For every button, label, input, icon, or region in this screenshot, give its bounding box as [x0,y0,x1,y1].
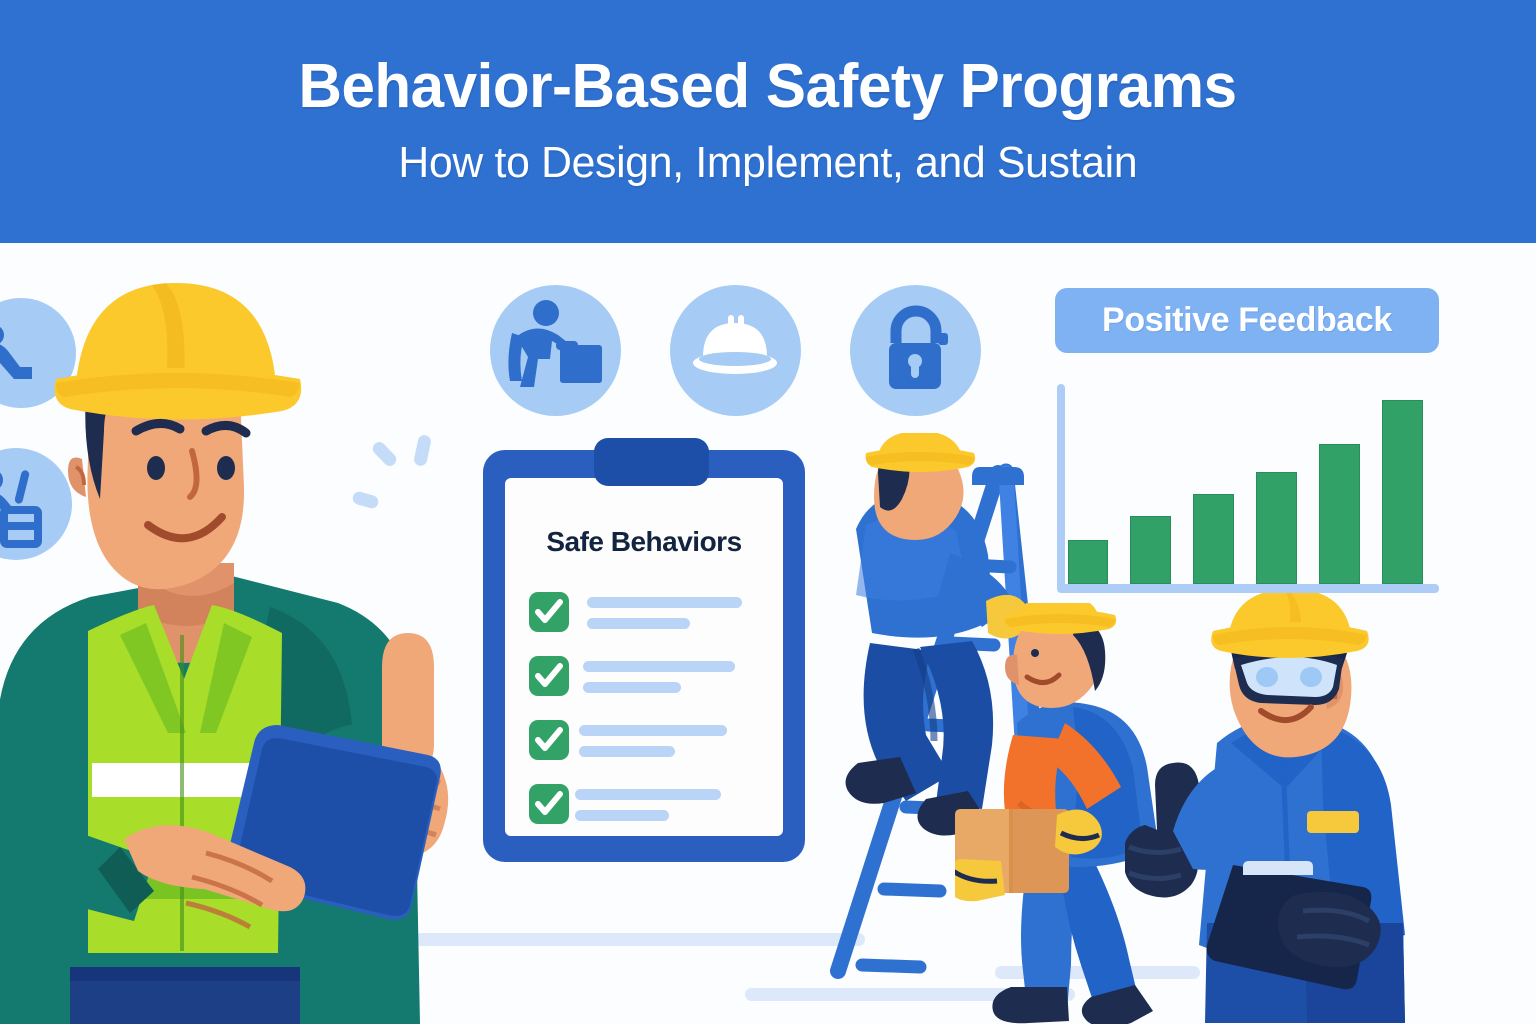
clipboard-page: Safe Behaviors [505,478,783,836]
safety-supervisor [0,243,530,1024]
header-banner: Behavior-Based Safety Programs How to De… [0,0,1536,243]
bar-6 [1382,400,1423,584]
chart-y-axis [1057,384,1065,590]
checklist-line-primary [583,661,735,672]
bar-1 [1068,540,1108,584]
checkbox-checked-icon[interactable] [529,720,569,760]
check-glyph [535,663,563,689]
clipboard-title: Safe Behaviors [505,526,783,558]
checklist-row[interactable] [529,592,765,644]
chart-x-axis [1057,584,1439,593]
check-glyph [535,599,563,625]
checklist-line-primary [579,725,727,736]
check-glyph [535,727,563,753]
checklist-line-secondary [575,810,669,821]
bar-4 [1256,472,1297,584]
checklist-line-secondary [579,746,675,757]
checklist-row[interactable] [529,656,765,708]
positive-feedback-chart: Positive Feedback [1043,288,1443,608]
checklist-row[interactable] [529,784,765,836]
checkbox-checked-icon[interactable] [529,592,569,632]
hard-hat-icon [670,285,801,416]
page-subtitle: How to Design, Implement, and Sustain [399,138,1138,188]
checklist-line-primary [587,597,742,608]
checklist-line-secondary [583,682,681,693]
bar-3 [1193,494,1234,584]
safe-behaviors-clipboard: Safe Behaviors [483,450,805,862]
bar-5 [1319,444,1360,584]
chart-bars [1065,384,1441,584]
inspector-with-goggles [1125,593,1465,1024]
bar-2 [1130,516,1171,584]
poster-canvas: Behavior-Based Safety Programs How to De… [0,0,1536,1024]
page-title: Behavior-Based Safety Programs [299,56,1237,118]
check-glyph [535,791,563,817]
checkbox-checked-icon[interactable] [529,784,569,824]
checklist-line-primary [575,789,721,800]
illustration-scene: Safe Behaviors [0,243,1536,1024]
checklist-line-secondary [587,618,690,629]
padlock-glyph [850,285,981,416]
chart-title-badge: Positive Feedback [1055,288,1439,353]
padlock-icon [850,285,981,416]
name-badge [1307,811,1359,833]
checkbox-checked-icon[interactable] [529,656,569,696]
checklist-row[interactable] [529,720,765,772]
hard-hat-glyph [670,285,801,416]
clipboard-clip [594,438,709,486]
